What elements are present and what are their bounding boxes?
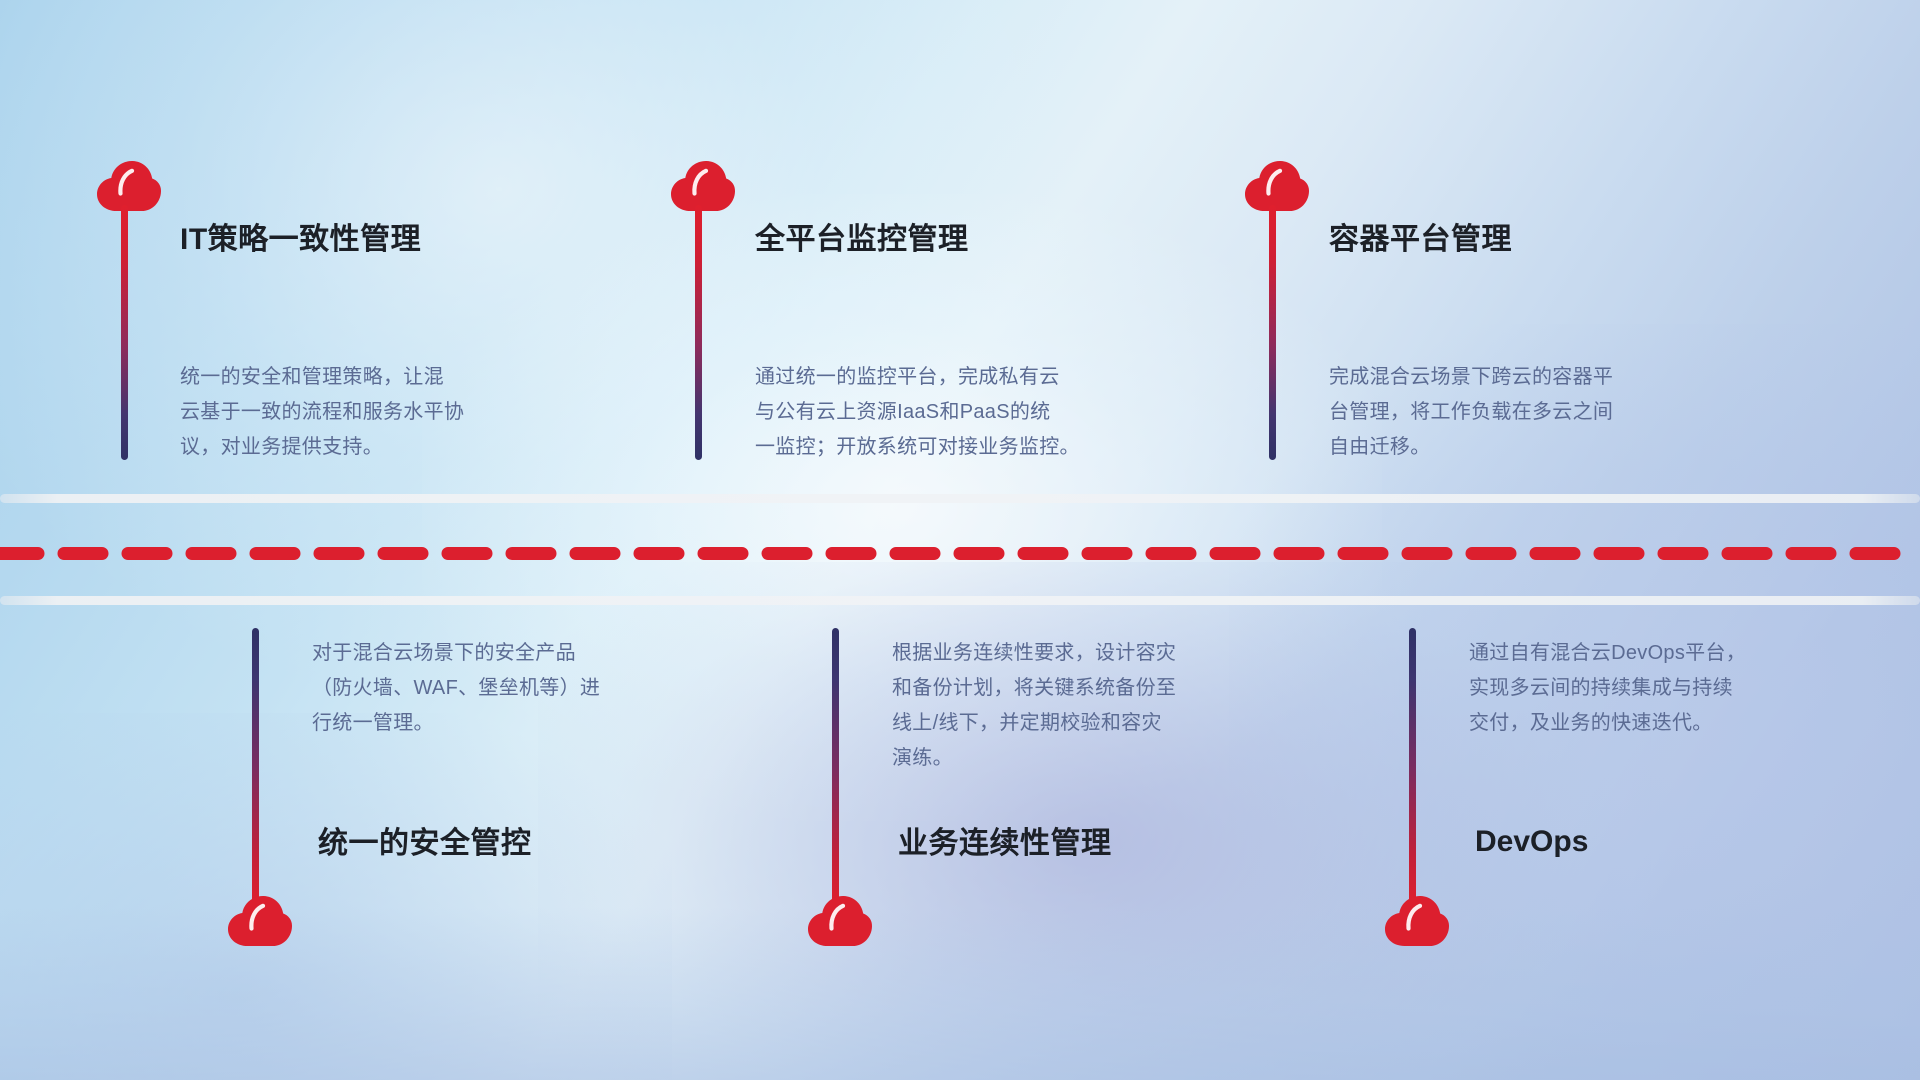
body-line: 云基于一致的流程和服务水平协	[180, 395, 550, 430]
bottom-item-1-title: 统一的安全管控	[318, 826, 532, 862]
body-line: 自由迁移。	[1329, 430, 1699, 465]
cloud-icon	[807, 895, 873, 947]
bottom-item-2-body: 根据业务连续性要求，设计容灾 和备份计划，将关键系统备份至 线上/线下，并定期校…	[892, 636, 1262, 776]
body-line: 一监控；开放系统可对接业务监控。	[755, 430, 1125, 465]
body-line: 和备份计划，将关键系统备份至	[892, 671, 1262, 706]
connector-bar	[1409, 628, 1416, 908]
body-line: （防火墙、WAF、堡垒机等）进	[312, 671, 682, 706]
body-line: 演练。	[892, 741, 1262, 776]
body-line: 完成混合云场景下跨云的容器平	[1329, 360, 1699, 395]
top-item-3-body: 完成混合云场景下跨云的容器平 台管理，将工作负载在多云之间 自由迁移。	[1329, 360, 1699, 465]
connector-bar	[695, 205, 702, 460]
body-line: 根据业务连续性要求，设计容灾	[892, 636, 1262, 671]
body-line: 行统一管理。	[312, 706, 682, 741]
body-line: 通过统一的监控平台，完成私有云	[755, 360, 1125, 395]
bottom-item-1-body: 对于混合云场景下的安全产品 （防火墙、WAF、堡垒机等）进 行统一管理。	[312, 636, 682, 741]
body-line: 交付，及业务的快速迭代。	[1469, 706, 1839, 741]
infographic-stage: IT策略一致性管理 统一的安全和管理策略，让混 云基于一致的流程和服务水平协 议…	[0, 0, 1920, 1080]
body-line: 统一的安全和管理策略，让混	[180, 360, 550, 395]
bottom-item-3-body: 通过自有混合云DevOps平台， 实现多云间的持续集成与持续 交付，及业务的快速…	[1469, 636, 1839, 741]
body-line: 对于混合云场景下的安全产品	[312, 636, 682, 671]
cloud-icon	[670, 160, 736, 212]
dashed-separator	[0, 546, 1920, 561]
body-line: 与公有云上资源IaaS和PaaS的统	[755, 395, 1125, 430]
divider-line-bottom	[0, 596, 1920, 605]
top-item-1-title: IT策略一致性管理	[180, 222, 421, 258]
top-item-2-title: 全平台监控管理	[755, 222, 969, 258]
bottom-item-3-title: DevOps	[1475, 824, 1588, 860]
body-line: 实现多云间的持续集成与持续	[1469, 671, 1839, 706]
connector-bar	[252, 628, 259, 908]
body-line: 线上/线下，并定期校验和容灾	[892, 706, 1262, 741]
divider-line-top	[0, 494, 1920, 503]
connector-bar	[121, 205, 128, 460]
cloud-icon	[1244, 160, 1310, 212]
bottom-item-2-title: 业务连续性管理	[898, 826, 1112, 862]
cloud-icon	[96, 160, 162, 212]
top-item-3-title: 容器平台管理	[1329, 222, 1512, 258]
connector-bar	[832, 628, 839, 908]
body-line: 议，对业务提供支持。	[180, 430, 550, 465]
top-item-1-body: 统一的安全和管理策略，让混 云基于一致的流程和服务水平协 议，对业务提供支持。	[180, 360, 550, 465]
top-item-2-body: 通过统一的监控平台，完成私有云 与公有云上资源IaaS和PaaS的统 一监控；开…	[755, 360, 1125, 465]
body-line: 台管理，将工作负载在多云之间	[1329, 395, 1699, 430]
body-line: 通过自有混合云DevOps平台，	[1469, 636, 1839, 671]
connector-bar	[1269, 205, 1276, 460]
cloud-icon	[1384, 895, 1450, 947]
cloud-icon	[227, 895, 293, 947]
